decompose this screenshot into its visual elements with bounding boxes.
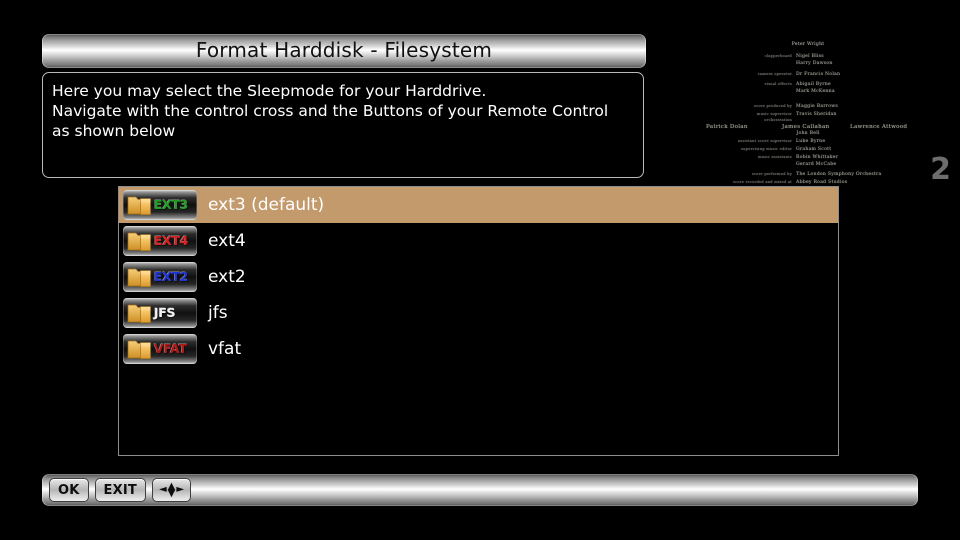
description-line: as shown below — [52, 121, 633, 141]
credit-role: music supervisor — [757, 112, 792, 116]
credit-role: visual effects — [765, 82, 793, 86]
dpad-button[interactable]: ◄ ▲ ▼ ► — [152, 478, 191, 502]
page-title: Format Harddisk - Filesystem — [196, 40, 492, 62]
exit-button[interactable]: EXIT — [95, 478, 146, 502]
credit-name: Lawrence Attwood — [850, 124, 907, 130]
credit-name: Nigel Bliss — [796, 54, 824, 59]
dpad-down-icon: ▼ — [168, 490, 176, 497]
credit-name: Peter Wright — [656, 42, 960, 47]
credit-name: Patrick Dolan — [706, 124, 748, 130]
window-title-bar: Format Harddisk - Filesystem — [42, 34, 646, 68]
credit-name: Abigail Byrne — [796, 82, 831, 87]
credit-name: Abbey Road Studios — [796, 180, 847, 185]
jfs-filesystem-icon: JFS — [123, 298, 197, 328]
dpad-left-icon: ◄ — [159, 485, 167, 495]
filesystem-badge-text: EXT2 — [154, 271, 188, 284]
description-line: Navigate with the control cross and the … — [52, 101, 633, 121]
credit-name: Gerard McCabe — [796, 162, 836, 167]
linux-folder-icon — [126, 264, 153, 290]
credit-name: Travis Sheridan — [796, 112, 837, 117]
credit-name: Harry Dawson — [796, 61, 833, 66]
filesystem-list-item[interactable]: VFATvfat — [119, 331, 838, 367]
filesystem-list-item-label: ext3 (default) — [208, 197, 324, 214]
credit-role: score performed by — [752, 172, 792, 176]
ext3-filesystem-icon: EXT3 — [123, 190, 197, 220]
credit-role: assistant score supervisor — [738, 139, 792, 143]
credit-name: Maggie Barrows — [796, 104, 838, 109]
credit-name: John Bell — [656, 131, 960, 136]
ok-button[interactable]: OK — [49, 478, 89, 502]
dpad-right-icon: ► — [176, 485, 184, 495]
filesystem-badge-text: EXT4 — [154, 235, 188, 248]
filesystem-list-item-label: vfat — [208, 341, 241, 358]
credit-name: Robin Whittaker — [796, 155, 838, 160]
button-bar: OK EXIT ◄ ▲ ▼ ► — [42, 474, 918, 506]
credit-name: Luke Byrne — [796, 139, 825, 144]
description-box: Here you may select the Sleepmode for yo… — [42, 72, 644, 178]
filesystem-badge-text: EXT3 — [154, 199, 188, 212]
credit-name: James Callahan — [782, 124, 829, 130]
credit-role: supervising music editor — [741, 147, 792, 151]
filesystem-list-item-label: ext2 — [208, 269, 246, 286]
filesystem-list-item-label: ext4 — [208, 233, 246, 250]
ext4-filesystem-icon: EXT4 — [123, 226, 197, 256]
credit-name: Graham Scott — [796, 147, 831, 152]
exit-button-label: EXIT — [104, 484, 137, 497]
credit-role: clapperboard — [765, 54, 792, 58]
filesystem-list[interactable]: EXT3ext3 (default) EXT4ext4 — [118, 186, 839, 456]
filesystem-list-item-label: jfs — [208, 305, 228, 322]
filesystem-badge-text: VFAT — [154, 343, 187, 356]
credit-role: camera operator — [758, 72, 792, 76]
vfat-filesystem-icon: VFAT — [123, 334, 197, 364]
background-video: Peter WrightclapperboardNigel BlissHarry… — [656, 28, 960, 188]
credit-name: The London Symphony Orchestra — [796, 172, 881, 177]
description-text: Here you may select the Sleepmode for yo… — [52, 81, 633, 141]
channel-logo: 2 — [930, 155, 950, 185]
linux-folder-icon — [126, 300, 153, 326]
folder-icon — [126, 336, 153, 362]
credit-name: Dr Francis Nolan — [796, 72, 840, 77]
credit-role: orchestration — [764, 118, 792, 122]
credit-name: Mark McKenna — [796, 89, 835, 94]
linux-folder-icon — [126, 228, 153, 254]
set-top-box-screen: Peter WrightclapperboardNigel BlissHarry… — [0, 0, 960, 540]
ok-button-label: OK — [58, 484, 80, 497]
filesystem-badge-text: JFS — [154, 307, 175, 320]
linux-folder-icon — [126, 192, 153, 218]
dpad-vertical-icons: ▲ ▼ — [168, 483, 176, 497]
credit-role: score produced by — [754, 104, 792, 108]
credit-role: music assistants — [758, 155, 792, 159]
ext2-filesystem-icon: EXT2 — [123, 262, 197, 292]
filesystem-list-item[interactable]: JFSjfs — [119, 295, 838, 331]
filesystem-list-item[interactable]: EXT3ext3 (default) — [119, 187, 838, 223]
filesystem-list-item[interactable]: EXT4ext4 — [119, 223, 838, 259]
filesystem-list-item[interactable]: EXT2ext2 — [119, 259, 838, 295]
control-cross-icon: ◄ ▲ ▼ ► — [159, 483, 184, 497]
description-line: Here you may select the Sleepmode for yo… — [52, 81, 633, 101]
credit-role: score recorded and mixed at — [733, 180, 792, 184]
